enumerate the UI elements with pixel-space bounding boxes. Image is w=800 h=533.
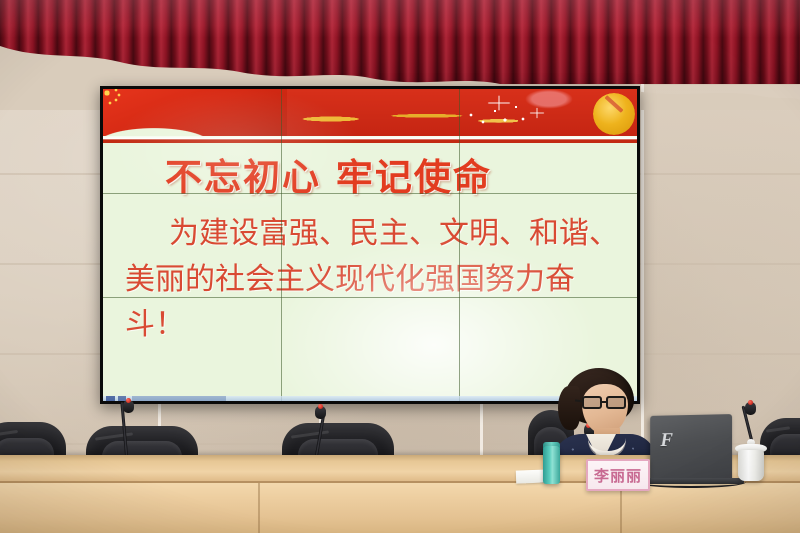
- slide-title: 不忘初心 牢记使命: [103, 147, 637, 201]
- slide-banner: [103, 89, 637, 136]
- presentation-slide: 不忘初心 牢记使命 为建设富强、民主、文明、和谐、美丽的社会主义现代化强国努力奋…: [103, 89, 637, 401]
- microphone-led: [126, 398, 131, 403]
- laptop[interactable]: F: [650, 414, 732, 482]
- desk-seam: [258, 483, 260, 533]
- slide-body-text: 为建设富强、民主、文明、和谐、美丽的社会主义现代化强国努力奋斗！: [103, 211, 637, 348]
- curtain-sheen: [0, 0, 800, 84]
- microphone-led: [318, 404, 323, 409]
- microphone-led: [748, 400, 753, 405]
- presenter-face: [582, 384, 628, 434]
- chinese-flag-icon: [103, 89, 287, 136]
- cpc-party-emblem-icon: [593, 93, 635, 135]
- lens-right: [606, 396, 626, 409]
- white-teacup[interactable]: [738, 450, 764, 481]
- laptop-brand-logo: F: [660, 429, 673, 452]
- nameplate-text: 李丽丽: [594, 465, 642, 486]
- desk-front-panel: [0, 483, 800, 533]
- chair-highlight: [0, 430, 17, 437]
- banner-underline: [103, 136, 637, 143]
- red-velvet-curtain: [0, 0, 800, 84]
- presenter-nameplate: 李丽丽: [586, 459, 650, 491]
- sparkle-graphic: [453, 89, 603, 136]
- laptop-cable: [636, 476, 746, 488]
- teal-thermos-cup[interactable]: [543, 446, 560, 484]
- presenter-hair-side: [558, 386, 580, 430]
- eyeglasses-icon: [582, 396, 632, 409]
- lens-left: [582, 396, 602, 409]
- conference-hall-photo: 不忘初心 牢记使命 为建设富强、民主、文明、和谐、美丽的社会主义现代化强国努力奋…: [0, 0, 800, 533]
- glasses-bridge: [602, 401, 607, 403]
- led-video-wall[interactable]: 不忘初心 牢记使命 为建设富强、民主、文明、和谐、美丽的社会主义现代化强国努力奋…: [100, 86, 640, 404]
